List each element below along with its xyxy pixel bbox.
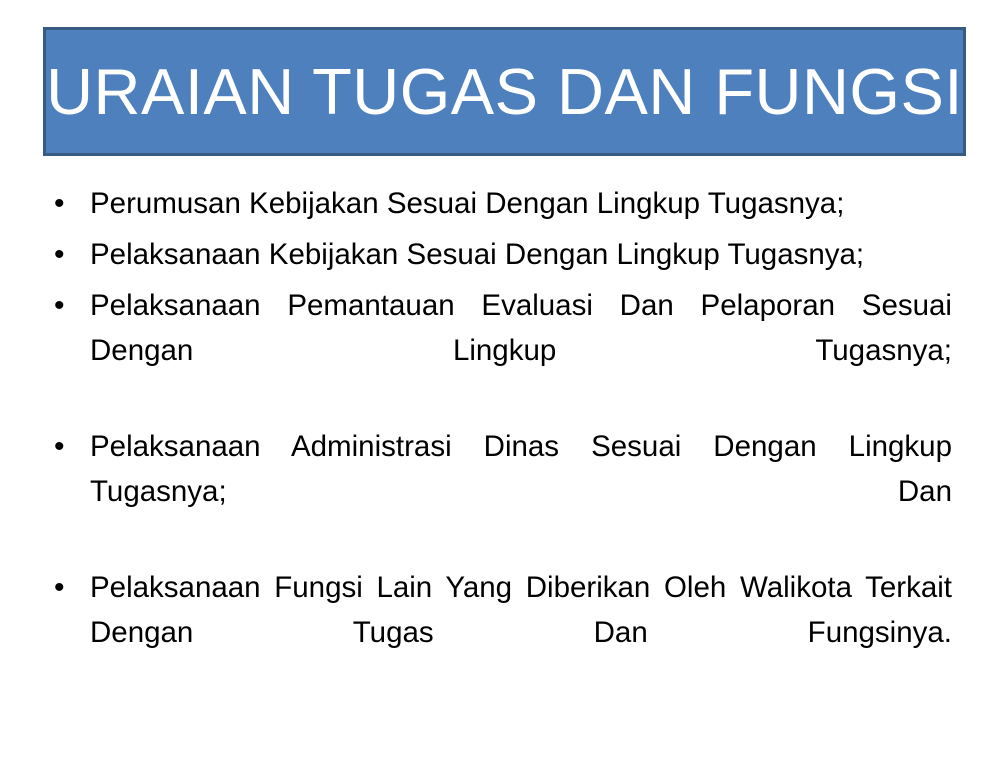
list-item-label: Perumusan Kebijakan Sesuai Dengan Lingku… xyxy=(90,181,952,226)
bullet-list: • Perumusan Kebijakan Sesuai Dengan Ling… xyxy=(47,181,952,706)
title-banner: URAIAN TUGAS DAN FUNGSI xyxy=(43,27,966,156)
bullet-dot-icon: • xyxy=(47,565,90,610)
list-item: • Pelaksanaan Administrasi Dinas Sesuai … xyxy=(47,424,952,559)
list-item: • Pelaksanaan Pemantauan Evaluasi Dan Pe… xyxy=(47,283,952,418)
list-item-label: Pelaksanaan Administrasi Dinas Sesuai De… xyxy=(90,424,952,559)
list-item-label: Pelaksanaan Pemantauan Evaluasi Dan Pela… xyxy=(90,283,952,418)
bullet-dot-icon: • xyxy=(47,424,90,469)
list-item-label: Pelaksanaan Kebijakan Sesuai Dengan Ling… xyxy=(90,232,952,277)
list-item-label: Pelaksanaan Fungsi Lain Yang Diberikan O… xyxy=(90,565,952,700)
bullet-dot-icon: • xyxy=(47,232,90,277)
list-item: • Perumusan Kebijakan Sesuai Dengan Ling… xyxy=(47,181,952,226)
list-item: • Pelaksanaan Kebijakan Sesuai Dengan Li… xyxy=(47,232,952,277)
slide-canvas: URAIAN TUGAS DAN FUNGSI • Perumusan Kebi… xyxy=(0,0,1007,757)
page-title: URAIAN TUGAS DAN FUNGSI xyxy=(46,59,963,124)
list-item: • Pelaksanaan Fungsi Lain Yang Diberikan… xyxy=(47,565,952,700)
bullet-dot-icon: • xyxy=(47,283,90,328)
bullet-dot-icon: • xyxy=(47,181,90,226)
